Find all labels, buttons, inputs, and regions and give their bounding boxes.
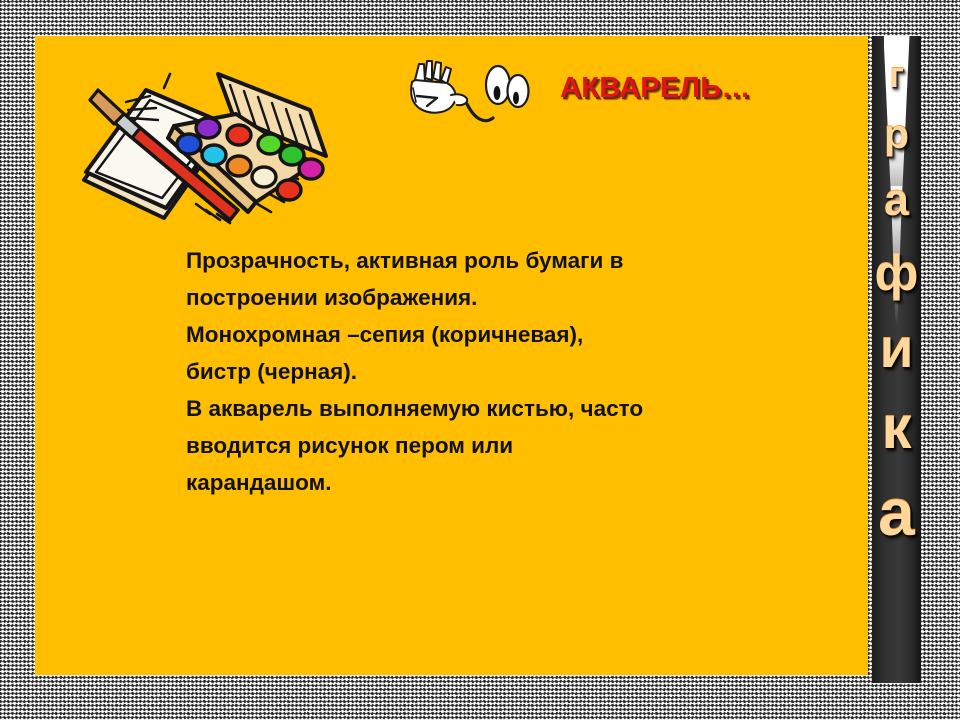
side-banner: г р а ф и к а	[872, 36, 921, 683]
watercolor-paint-set-image	[78, 52, 328, 230]
cartoon-hand-and-eyes-image	[405, 58, 530, 136]
body-line: вводится рисунок пером или	[186, 427, 806, 464]
banner-letter: и	[880, 321, 914, 375]
banner-letter: р	[884, 113, 909, 153]
body-line: построении изображения.	[186, 279, 806, 316]
page-title: АКВАРЕЛЬ…	[560, 72, 860, 105]
body-line: Прозрачность, активная роль бумаги в	[186, 242, 806, 279]
body-line: В акварель выполняемую кистью, часто	[186, 390, 806, 427]
banner-letter: а	[878, 479, 915, 544]
body-line: Монохромная –сепия (коричневая),	[186, 316, 806, 353]
body-line: бистр (черная).	[186, 353, 806, 390]
banner-letter: ф	[875, 248, 919, 297]
slide-canvas: АКВАРЕЛЬ… Прозрачность, активная роль бу…	[0, 0, 960, 720]
banner-letter: к	[881, 398, 911, 457]
vertical-word-grafika: г р а ф и к а	[872, 36, 921, 683]
body-line: карандашом.	[186, 464, 806, 501]
banner-letter: г	[889, 56, 904, 91]
body-text-block: Прозрачность, активная роль бумаги в пос…	[186, 242, 806, 501]
banner-letter: а	[884, 177, 909, 221]
